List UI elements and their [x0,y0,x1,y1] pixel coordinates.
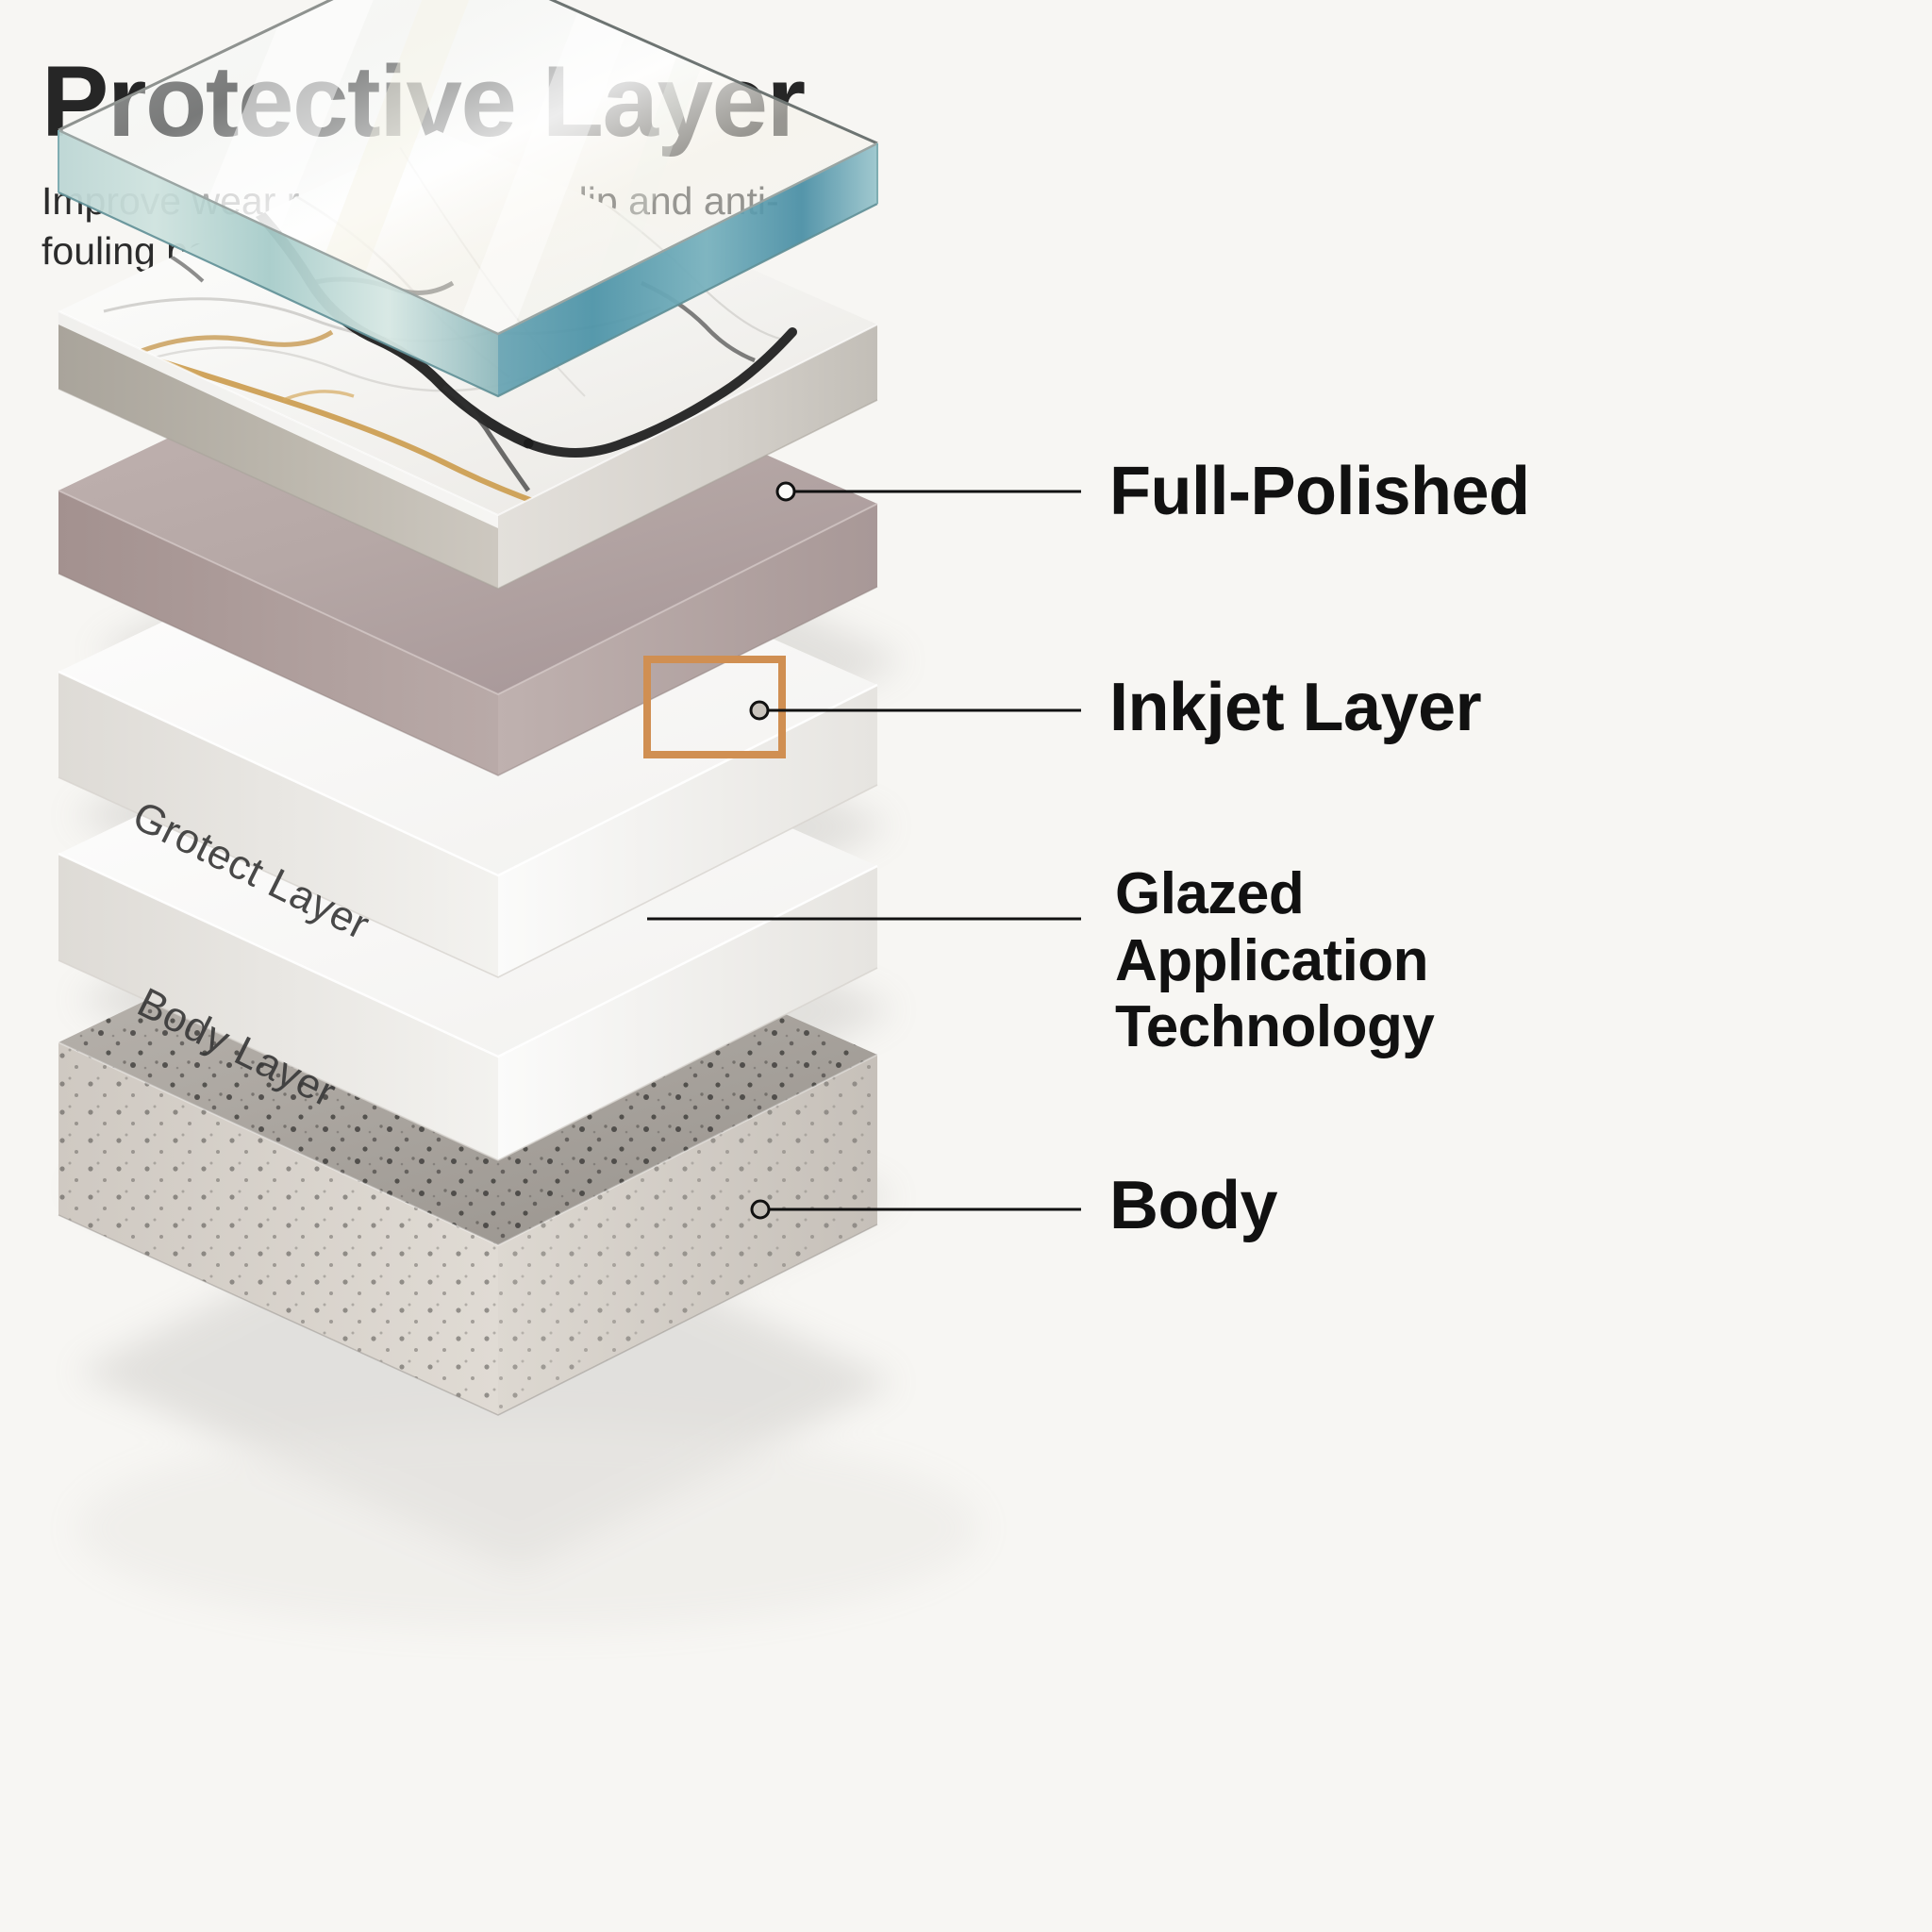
callout-label-body: Body [1109,1170,1277,1241]
callout-label-glazed: Glazed Application Technology [1115,861,1434,1061]
exploded-layer-diagram [0,0,1932,1932]
callout-label-full-polished: Full-Polished [1109,456,1530,527]
dot-full-polished [777,483,794,500]
dot-inkjet [751,702,768,719]
layer-stack-svg [0,0,1932,1932]
dot-body [752,1201,769,1218]
callout-label-inkjet: Inkjet Layer [1109,672,1481,743]
